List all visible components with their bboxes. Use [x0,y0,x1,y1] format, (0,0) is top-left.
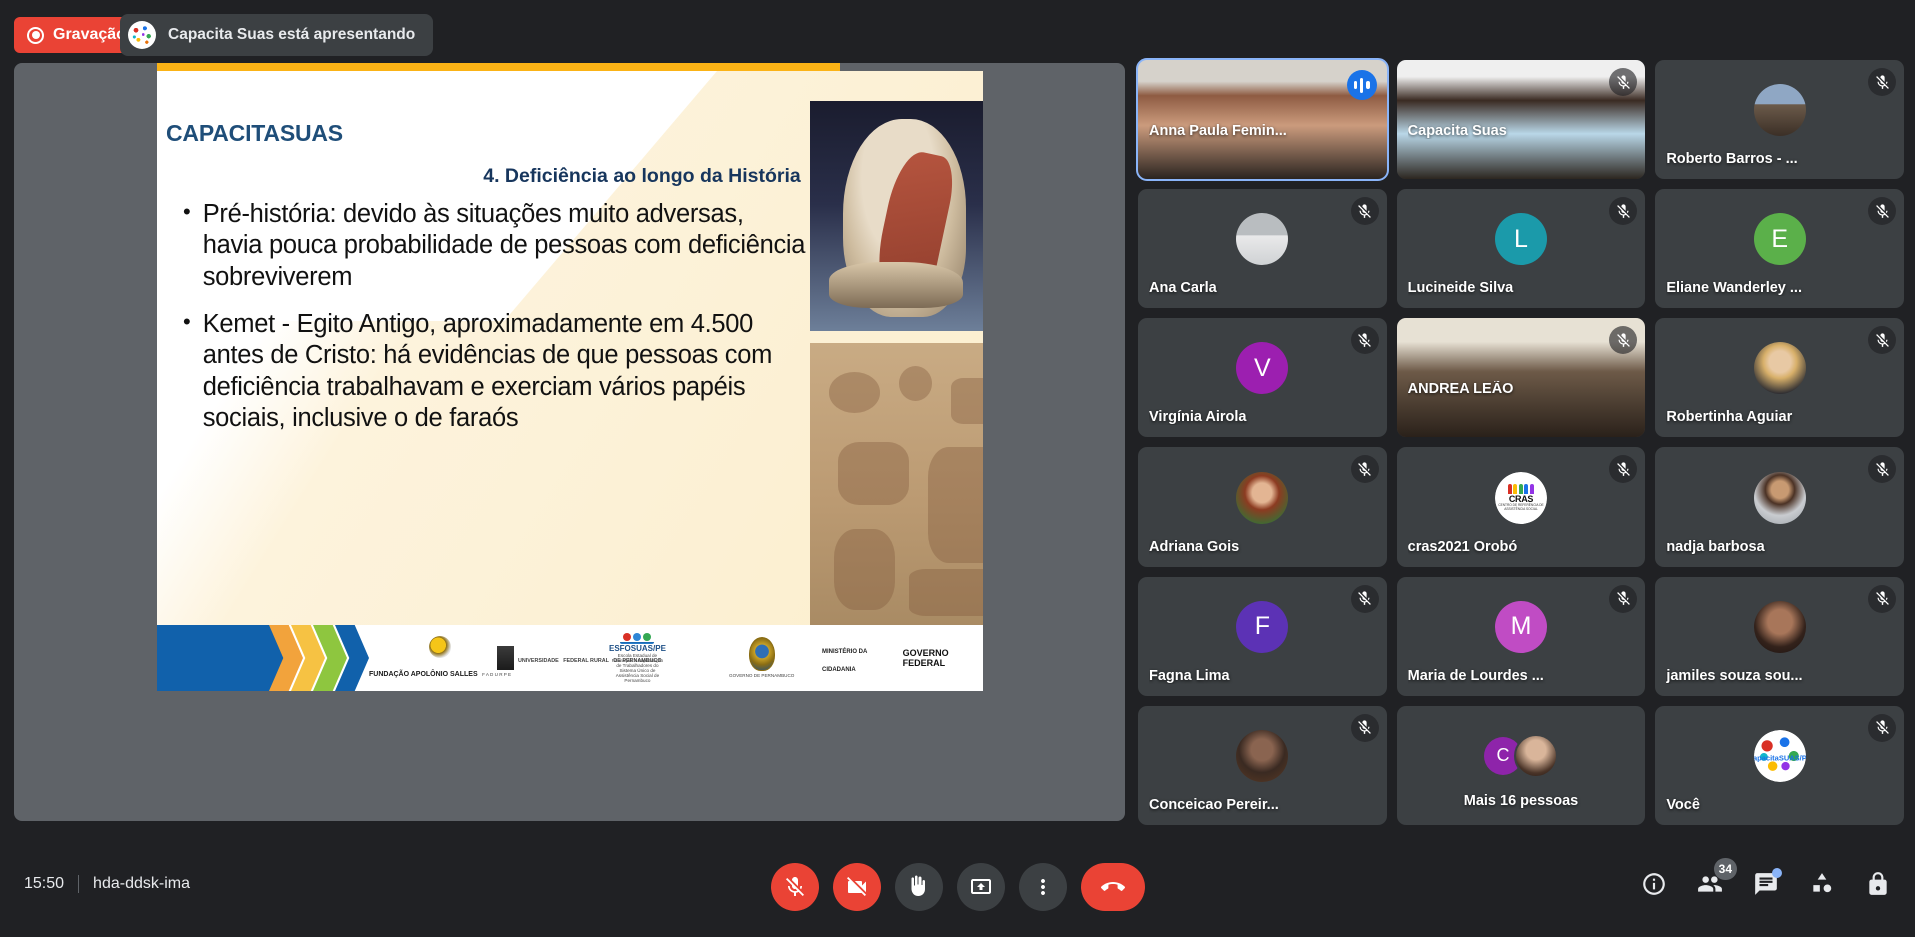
chat-icon[interactable] [1751,869,1781,899]
meeting-details-icon[interactable] [1639,869,1669,899]
call-controls [771,863,1145,911]
logo-ufrpe-line2: FEDERAL RURAL [563,658,609,664]
host-controls-icon[interactable] [1863,869,1893,899]
camera-off-button[interactable] [833,863,881,911]
avatar: CRASCENTRO DE REFERÊNCIA DE ASSISTÊNCIA … [1495,472,1547,524]
participant-tile[interactable]: Ana Carla [1138,189,1387,308]
participant-tile[interactable]: MMaria de Lourdes ... [1397,577,1646,696]
mic-off-icon [1609,585,1637,613]
logo-fundacao-apolonio-salles: FUNDAÇÃO APOLÔNIO SALLES F A D U R P E [369,633,511,683]
participant-tile[interactable]: Roberto Barros - ... [1655,60,1904,179]
avatar [1754,472,1806,524]
avatar: L [1495,213,1547,265]
participants-icon[interactable]: 34 [1695,869,1725,899]
mic-off-icon [1868,585,1896,613]
top-bar: Gravação Capacita Suas está apresentando [0,0,1915,62]
participant-name: Capacita Suas [1408,123,1612,139]
mic-off-icon [1609,455,1637,483]
logo-governo-pernambuco: GOVERNO DE PERNAMBUCO [729,633,794,683]
avatar-stack: C [1484,734,1558,778]
avatar: CapacitaSUAS/PE [1754,730,1806,782]
participant-tile[interactable]: ANDREA LEÃO [1397,318,1646,437]
mic-off-icon [1351,714,1379,742]
participant-name: ANDREA LEÃO [1408,381,1612,397]
logo-governo-federal-label: GOVERNO FEDERAL [903,648,983,668]
mic-off-icon [1351,326,1379,354]
avatar: M [1495,601,1547,653]
cras-logo-icon: CRASCENTRO DE REFERÊNCIA DE ASSISTÊNCIA … [1495,472,1547,524]
participant-tile[interactable]: Conceicao Pereir... [1138,706,1387,825]
logo-esfosuas-label: ESFOSUAS/PE [609,644,666,653]
participant-name: Adriana Gois [1149,539,1353,555]
mic-off-icon [1868,455,1896,483]
participant-tile[interactable]: Robertinha Aguiar [1655,318,1904,437]
participant-tile[interactable]: LLucineide Silva [1397,189,1646,308]
capacitasuas-logo-icon: CapacitaSUAS/PE [1754,730,1806,782]
slide-footer: FUNDAÇÃO APOLÔNIO SALLES F A D U R P E U… [157,625,983,691]
participant-tile[interactable]: EEliane Wanderley ... [1655,189,1904,308]
participant-name: Fagna Lima [1149,668,1353,684]
recording-label: Gravação [53,26,126,44]
divider [78,875,79,893]
participant-name: Robertinha Aguiar [1666,409,1870,425]
participant-video [1397,318,1646,437]
raise-hand-button[interactable] [895,863,943,911]
participant-name: Roberto Barros - ... [1666,151,1870,167]
participant-name: Anna Paula Femin... [1149,123,1353,139]
presenting-label: Capacita Suas está apresentando [168,26,415,44]
meet-window: Gravação Capacita Suas está apresentando… [0,0,1915,937]
logo-pe-label: GOVERNO DE PERNAMBUCO [729,673,794,678]
participant-video [1397,60,1646,179]
mic-off-icon [1868,326,1896,354]
bullet-marker: • [183,309,191,434]
avatar [1236,730,1288,782]
bottom-bar: 15:50 hda-ddsk-ima [0,837,1915,937]
slide-image-hieroglyph [810,343,983,633]
participant-grid: Anna Paula Femin...Capacita SuasRoberto … [1138,60,1904,825]
avatar [1754,84,1806,136]
end-call-button[interactable] [1081,863,1145,911]
participant-tile[interactable]: Adriana Gois [1138,447,1387,566]
avatar [1236,213,1288,265]
record-dot-icon [27,27,44,44]
activities-icon[interactable] [1807,869,1837,899]
slide-image-statue [810,101,983,331]
logo-ministerio-line1: MINISTÉRIO DA [822,649,867,655]
participants-count-badge: 34 [1714,858,1737,880]
slide-bullet-list: • Pré-história: devido às situações muit… [183,199,808,451]
chat-unread-dot [1772,868,1782,878]
participant-tile[interactable]: jamiles souza sou... [1655,577,1904,696]
meeting-meta: 15:50 hda-ddsk-ima [24,875,190,893]
mic-off-icon [1351,197,1379,225]
participant-tile[interactable]: CapacitaSUAS/PEVocê [1655,706,1904,825]
bullet-marker: • [183,199,191,293]
avatar [1236,472,1288,524]
presentation-stage[interactable]: CAPACITASUAS 4. Deficiência ao longo da … [14,63,1125,821]
logo-governo-federal: MINISTÉRIO DA CIDADANIA GOVERNO FEDERAL [822,633,983,683]
presented-slide: CAPACITASUAS 4. Deficiência ao longo da … [157,71,983,691]
participant-name: nadja barbosa [1666,539,1870,555]
avatar: E [1754,213,1806,265]
participant-tile[interactable]: nadja barbosa [1655,447,1904,566]
participant-tile[interactable]: Anna Paula Femin... [1138,60,1387,179]
participant-name: Ana Carla [1149,280,1353,296]
more-options-button[interactable] [1019,863,1067,911]
mic-off-icon [1868,714,1896,742]
participant-name: cras2021 Orobó [1408,539,1612,555]
avatar: F [1236,601,1288,653]
mic-off-icon [1351,585,1379,613]
mic-off-icon [1351,455,1379,483]
present-screen-button[interactable] [957,863,1005,911]
logo-apolonio-label: FUNDAÇÃO APOLÔNIO SALLES [369,671,478,678]
right-controls: 34 [1639,869,1893,899]
logo-esfosuas: ESFOSUAS/PE Escola Estadual de Formação … [609,633,666,683]
participant-name: Lucineide Silva [1408,280,1612,296]
participant-name: Virgínia Airola [1149,409,1353,425]
participant-tile[interactable]: CRASCENTRO DE REFERÊNCIA DE ASSISTÊNCIA … [1397,447,1646,566]
mic-off-icon [1868,197,1896,225]
presenter-avatar [128,21,156,49]
slide-heading: 4. Deficiência ao longo da História [407,165,877,188]
bullet-text: Kemet - Egito Antigo, aproximadamente em… [203,309,808,434]
logo-ufrpe-line1: UNIVERSIDADE [518,658,559,664]
bullet-text: Pré-história: devido às situações muito … [203,199,808,293]
avatar [1754,342,1806,394]
slide-brand-title: CAPACITASUAS [166,120,343,147]
participant-tile[interactable]: Capacita Suas [1397,60,1646,179]
list-item: • Pré-história: devido às situações muit… [183,199,808,293]
clock: 15:50 [24,875,64,893]
presenting-banner[interactable]: Capacita Suas está apresentando [120,14,433,56]
microphone-off-button[interactable] [771,863,819,911]
participant-name: Você [1666,797,1870,813]
avatar: V [1236,342,1288,394]
participant-tile[interactable]: CMais 16 pessoas [1397,706,1646,825]
participant-name: Conceicao Pereir... [1149,797,1353,813]
logo-ministerio-line2: CIDADANIA [822,667,856,673]
logo-esfosuas-sub: Escola Estadual de Formação e Capacitaçã… [609,653,665,683]
participant-name: jamiles souza sou... [1666,668,1870,684]
mic-off-icon [1868,68,1896,96]
speaking-indicator-icon [1347,70,1377,100]
participant-name: Mais 16 pessoas [1397,793,1646,809]
avatar [1754,601,1806,653]
participant-tile[interactable]: FFagna Lima [1138,577,1387,696]
participant-name: Maria de Lourdes ... [1408,668,1612,684]
list-item: • Kemet - Egito Antigo, aproximadamente … [183,309,808,434]
meeting-code: hda-ddsk-ima [93,875,190,893]
mic-off-icon [1609,197,1637,225]
participant-name: Eliane Wanderley ... [1666,280,1870,296]
participant-tile[interactable]: VVirgínia Airola [1138,318,1387,437]
